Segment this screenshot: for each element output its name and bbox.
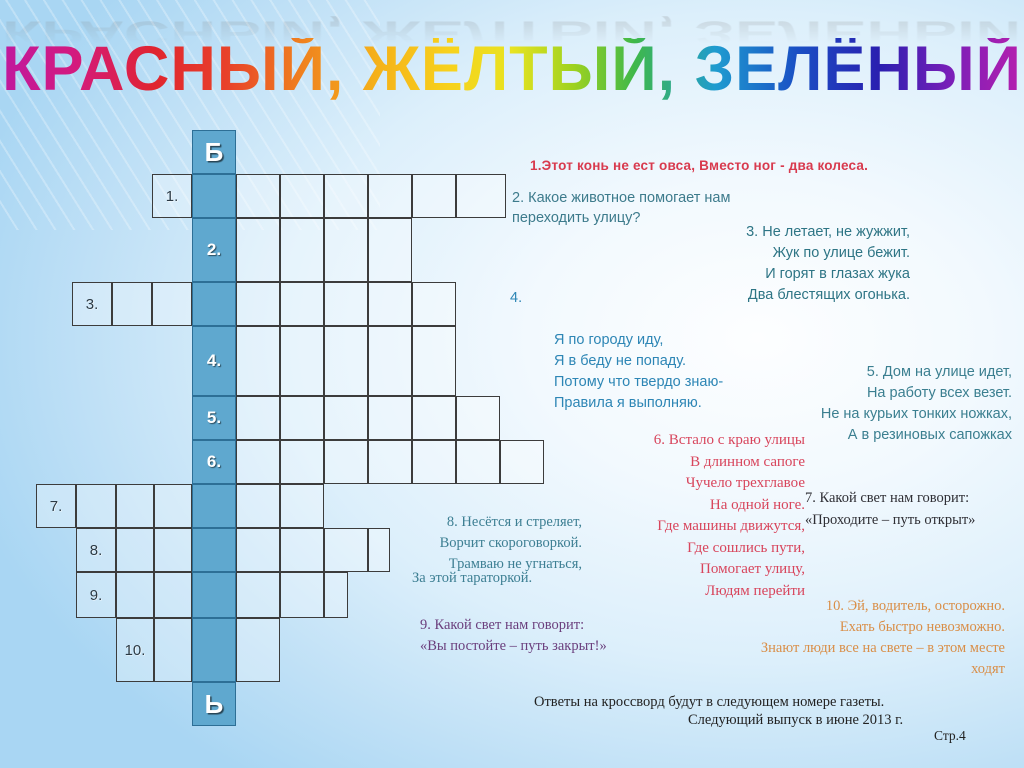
- crossword-cell-row6-c4[interactable]: [324, 440, 368, 484]
- page-number: Стр.4: [934, 728, 966, 744]
- crossword-cell-row8-c4[interactable]: [192, 528, 236, 572]
- crossword-cell-row1-c7[interactable]: [412, 174, 456, 218]
- footer-answers-note: Ответы на кроссворд будут в следующем но…: [534, 694, 884, 711]
- crossword-cell-row5-c5[interactable]: [368, 396, 412, 440]
- slide-canvas: КРАСНЫЙ, ЖЁЛТЫЙ, ЗЕЛЁНЫЙ КРАСНЫЙ, ЖЁЛТЫЙ…: [0, 0, 1024, 768]
- crossword-cell-row6-c6[interactable]: [412, 440, 456, 484]
- crossword-cell-row5-c3[interactable]: [280, 396, 324, 440]
- crossword-cell-row8-num[interactable]: 8.: [76, 528, 116, 572]
- crossword-cell-row9-c5[interactable]: [236, 572, 280, 618]
- crossword-cell-row7-c6[interactable]: [236, 484, 280, 528]
- crossword-cell-row9-c3[interactable]: [154, 572, 192, 618]
- crossword-cell-row8-c7[interactable]: [324, 528, 368, 572]
- crossword-cell-row6-c2[interactable]: [236, 440, 280, 484]
- clue-7: 7. Какой свет нам говорит: «Проходите – …: [805, 487, 975, 531]
- crossword-cell-row3-num[interactable]: 3.: [72, 282, 112, 326]
- crossword-cell-row6-c5[interactable]: [368, 440, 412, 484]
- clue-8-continuation: За этой тараторкой.: [412, 570, 532, 587]
- crossword-cell-row1-c3[interactable]: [236, 174, 280, 218]
- crossword-cell-row1-num[interactable]: 1.: [152, 174, 192, 218]
- crossword-cell-row1-c2[interactable]: [192, 174, 236, 218]
- crossword-cell-row2-num[interactable]: 2.: [192, 218, 236, 282]
- crossword-cell-row3-c5[interactable]: [236, 282, 280, 326]
- crossword-cell-row8-c2[interactable]: [116, 528, 154, 572]
- crossword-cell-row8-c6[interactable]: [280, 528, 324, 572]
- crossword-cell-row3-c9[interactable]: [412, 282, 456, 326]
- crossword-cell-row9-c6[interactable]: [280, 572, 324, 618]
- crossword-cell-row2-c4[interactable]: [324, 218, 368, 282]
- crossword-cell-row4-c6[interactable]: [412, 326, 456, 396]
- crossword-cell-row5-c7[interactable]: [456, 396, 500, 440]
- crossword-cell-row4-c2[interactable]: [236, 326, 280, 396]
- crossword-cell-row7-c3[interactable]: [116, 484, 154, 528]
- crossword-cell-row8-c5[interactable]: [236, 528, 280, 572]
- crossword-cell-vertical-top[interactable]: Б: [192, 130, 236, 174]
- crossword-cell-row10-c3[interactable]: [192, 618, 236, 682]
- clue-1: 1.Этот конь не ест овса, Вместо ног - дв…: [530, 158, 868, 173]
- crossword-cell-row4-c3[interactable]: [280, 326, 324, 396]
- crossword-cell-row7-c4[interactable]: [154, 484, 192, 528]
- crossword-cell-row7-c5[interactable]: [192, 484, 236, 528]
- crossword-cell-row4-c5[interactable]: [368, 326, 412, 396]
- clue-8: 8. Несётся и стреляет, Ворчит скороговор…: [412, 512, 582, 575]
- crossword-cell-row10-num[interactable]: 10.: [116, 618, 154, 682]
- crossword-cell-row2-c5[interactable]: [368, 218, 412, 282]
- crossword-cell-row2-c3[interactable]: [280, 218, 324, 282]
- crossword-cell-row9-c7[interactable]: [324, 572, 348, 618]
- crossword-cell-row7-c2[interactable]: [76, 484, 116, 528]
- crossword-cell-row6-num[interactable]: 6.: [192, 440, 236, 484]
- crossword-cell-row5-c2[interactable]: [236, 396, 280, 440]
- crossword-cell-row3-c6[interactable]: [280, 282, 324, 326]
- crossword-cell-row1-c5[interactable]: [324, 174, 368, 218]
- clue-9: 9. Какой свет нам говорит: «Вы постойте …: [420, 615, 607, 657]
- crossword-cell-row3-c4[interactable]: [192, 282, 236, 326]
- crossword-cell-row8-c8[interactable]: [368, 528, 390, 572]
- crossword-cell-row9-c2[interactable]: [116, 572, 154, 618]
- crossword-cell-row3-c8[interactable]: [368, 282, 412, 326]
- crossword-cell-vertical-bottom[interactable]: Ь: [192, 682, 236, 726]
- crossword-cell-row5-c6[interactable]: [412, 396, 456, 440]
- clue-10: 10. Эй, водитель, осторожно. Ехать быстр…: [700, 596, 1005, 680]
- crossword-cell-row10-c4[interactable]: [236, 618, 280, 682]
- crossword-cell-row7-c7[interactable]: [280, 484, 324, 528]
- crossword-cell-row2-c2[interactable]: [236, 218, 280, 282]
- clue-6: 6. Встало с краю улицы В длинном сапоге …: [590, 430, 805, 602]
- footer-next-issue: Следующий выпуск в июне 2013 г.: [688, 712, 903, 729]
- crossword-cell-row1-c4[interactable]: [280, 174, 324, 218]
- crossword-cell-row5-num[interactable]: 5.: [192, 396, 236, 440]
- crossword-cell-row6-c7[interactable]: [456, 440, 500, 484]
- crossword-cell-row1-c6[interactable]: [368, 174, 412, 218]
- crossword-cell-row8-c3[interactable]: [154, 528, 192, 572]
- crossword-cell-row4-num[interactable]: 4.: [192, 326, 236, 396]
- crossword-cell-row3-c2[interactable]: [112, 282, 152, 326]
- crossword-cell-row6-c3[interactable]: [280, 440, 324, 484]
- crossword-cell-row9-c4[interactable]: [192, 572, 236, 618]
- crossword-cell-row7-num[interactable]: 7.: [36, 484, 76, 528]
- crossword-cell-row9-num[interactable]: 9.: [76, 572, 116, 618]
- crossword-cell-row10-c2[interactable]: [154, 618, 192, 682]
- crossword-cell-row3-c3[interactable]: [152, 282, 192, 326]
- crossword-cell-row5-c4[interactable]: [324, 396, 368, 440]
- crossword-cell-row3-c7[interactable]: [324, 282, 368, 326]
- clue-4-number: 4.: [510, 288, 522, 309]
- crossword-cell-row6-c8[interactable]: [500, 440, 544, 484]
- crossword-cell-row1-c8[interactable]: [456, 174, 506, 218]
- crossword-cell-row4-c4[interactable]: [324, 326, 368, 396]
